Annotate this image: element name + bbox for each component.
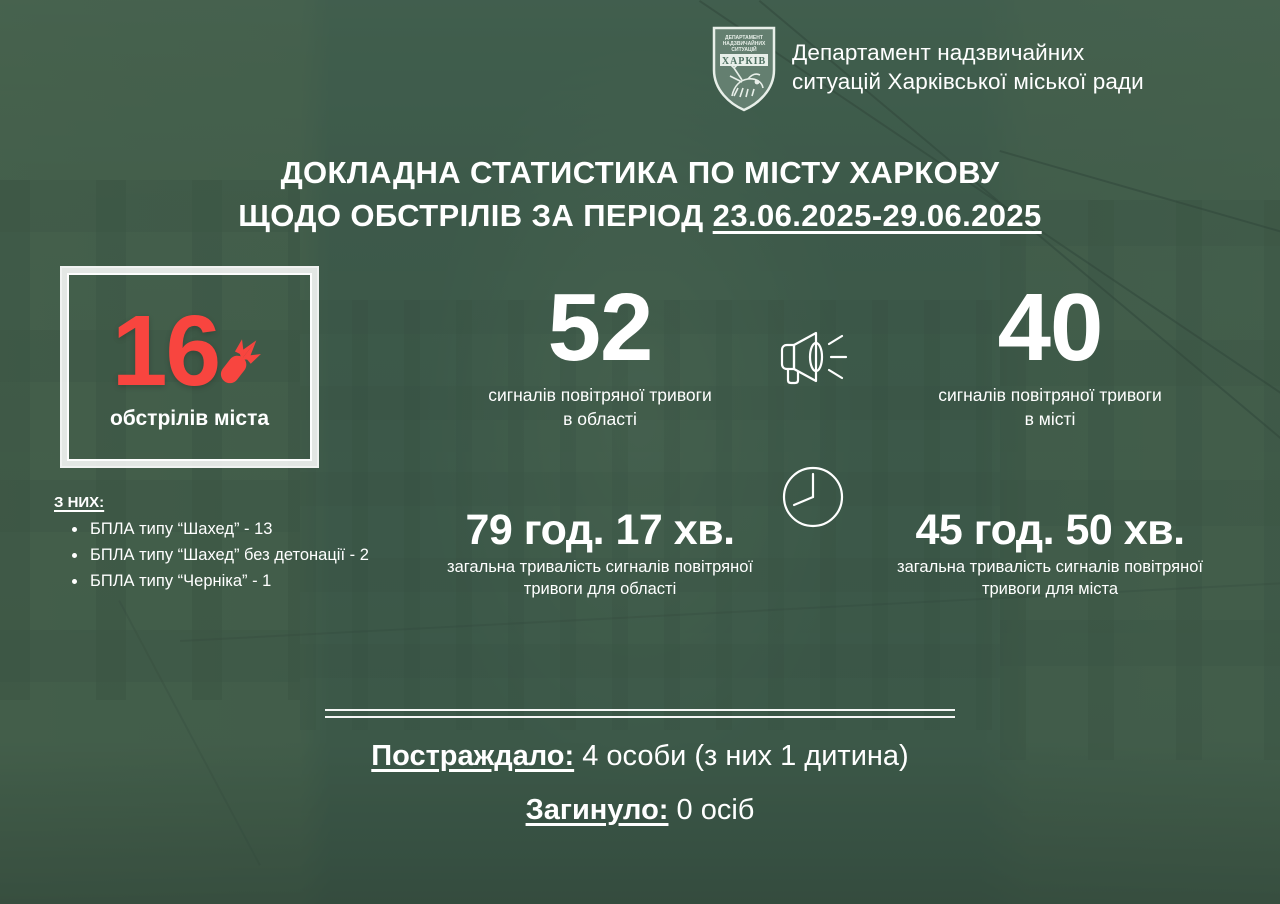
alerts-oblast-caption: сигналів повітряної тривоги в області <box>430 384 770 431</box>
title-line-2: ЩОДО ОБСТРІЛІВ ЗА ПЕРІОД 23.06.2025-29.0… <box>0 195 1280 238</box>
duration-oblast-stat: 79 год. 17 хв. загальна тривалість сигна… <box>400 508 800 601</box>
duration-oblast-caption: загальна тривалість сигналів повітряної … <box>400 557 800 601</box>
page-title: ДОКЛАДНА СТАТИСТИКА ПО МІСТУ ХАРКОВУ ЩОД… <box>0 152 1280 238</box>
svg-text:НАДЗВИЧАЙНИХ: НАДЗВИЧАЙНИХ <box>723 39 766 47</box>
injured-row: Постраждало: 4 особи (з них 1 дитина) <box>0 730 1280 784</box>
duration-oblast-value: 79 год. 17 хв. <box>400 508 800 553</box>
section-divider <box>325 709 955 718</box>
alerts-city-caption: сигналів повітряної тривоги в місті <box>880 384 1220 431</box>
alerts-city-stat: 40 сигналів повітряної тривоги в місті <box>880 284 1220 431</box>
list-item: БПЛА типу “Шахед” без детонації - 2 <box>68 542 434 568</box>
infographic-canvas: ДЕПАРТАМЕНТ НАДЗВИЧАЙНИХ СИТУАЦІЙ ХАРКІВ… <box>0 0 1280 904</box>
title-line-2-prefix: ЩОДО ОБСТРІЛІВ ЗА ПЕРІОД <box>238 198 712 233</box>
strikes-card: 16 обстрілів міста <box>60 266 319 468</box>
organization-name: Департамент надзвичайних ситуацій Харків… <box>792 39 1144 97</box>
header: ДЕПАРТАМЕНТ НАДЗВИЧАЙНИХ СИТУАЦІЙ ХАРКІВ… <box>712 24 1144 112</box>
breakdown-title: З НИХ: <box>54 494 434 511</box>
svg-text:СИТУАЦІЙ: СИТУАЦІЙ <box>731 45 757 53</box>
title-line-1: ДОКЛАДНА СТАТИСТИКА ПО МІСТУ ХАРКОВУ <box>0 152 1280 195</box>
killed-label: Загинуло: <box>526 794 669 826</box>
list-item: БПЛА типу “Черніка” - 1 <box>68 568 434 594</box>
killed-value: 0 осіб <box>668 794 754 826</box>
injured-value: 4 особи (з них 1 дитина) <box>574 740 909 772</box>
list-item: БПЛА типу “Шахед” - 13 <box>68 516 434 542</box>
strikes-label: обстрілів міста <box>110 407 269 431</box>
alerts-oblast-value: 52 <box>430 284 770 372</box>
svg-text:ХАРКІВ: ХАРКІВ <box>722 56 766 67</box>
alerts-oblast-stat: 52 сигналів повітряної тривоги в області <box>430 284 770 431</box>
strikes-count-row: 16 <box>112 304 267 399</box>
report-period: 23.06.2025-29.06.2025 <box>713 198 1042 233</box>
duration-city-value: 45 год. 50 хв. <box>840 508 1260 553</box>
strikes-count: 16 <box>112 304 219 399</box>
breakdown-section: З НИХ: БПЛА типу “Шахед” - 13 БПЛА типу … <box>54 494 434 594</box>
bomb-icon <box>215 329 267 391</box>
breakdown-list: БПЛА типу “Шахед” - 13 БПЛА типу “Шахед”… <box>54 516 434 594</box>
shield-emblem-icon: ДЕПАРТАМЕНТ НАДЗВИЧАЙНИХ СИТУАЦІЙ ХАРКІВ <box>712 24 776 112</box>
killed-row: Загинуло: 0 осіб <box>0 784 1280 838</box>
casualties-section: Постраждало: 4 особи (з них 1 дитина) За… <box>0 730 1280 837</box>
alerts-city-value: 40 <box>880 284 1220 372</box>
duration-city-stat: 45 год. 50 хв. загальна тривалість сигна… <box>840 508 1260 601</box>
megaphone-icon <box>772 324 856 394</box>
duration-city-caption: загальна тривалість сигналів повітряної … <box>840 557 1260 601</box>
injured-label: Постраждало: <box>371 740 574 772</box>
